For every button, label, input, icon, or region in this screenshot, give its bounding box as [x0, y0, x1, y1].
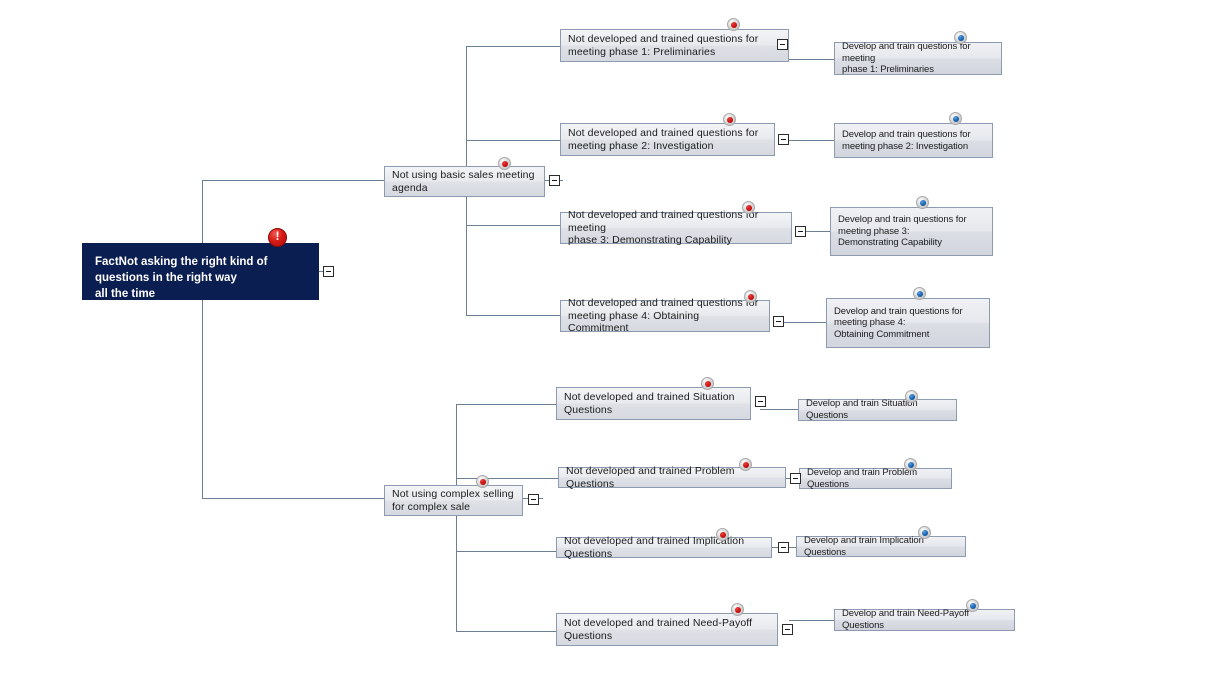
alert-icon: !: [268, 228, 287, 247]
solution-node-problem-questions[interactable]: Develop and train Problem Questions: [799, 468, 952, 489]
solution-node-label: Develop and train questions for meeting …: [842, 41, 994, 76]
problem-node-label: Not developed and trained Situation Ques…: [564, 391, 743, 417]
mindmap-canvas: FactNot asking the right kind of questio…: [0, 0, 1226, 677]
problem-node-phase-1[interactable]: Not developed and trained questions for …: [560, 29, 789, 62]
connector-needpayoff-to-solution: [789, 620, 834, 621]
solution-node-phase-2[interactable]: Develop and train questions for meeting …: [834, 123, 993, 158]
branch1-collapse-toggle[interactable]: [549, 175, 560, 186]
blue-dot-icon: [966, 599, 979, 612]
blue-dot-icon: [916, 196, 929, 209]
problem-node-problem-questions[interactable]: Not developed and trained Problem Questi…: [558, 467, 786, 488]
branch-node-complex-selling[interactable]: Not using complex selling for complex sa…: [384, 485, 523, 516]
solution-node-need-payoff-questions[interactable]: Develop and train Need-Payoff Questions: [834, 609, 1015, 631]
phase2-collapse-toggle[interactable]: [778, 134, 789, 145]
connector-branch1-child4: [466, 315, 560, 316]
blue-dot-icon: [904, 458, 917, 471]
solution-node-phase-1[interactable]: Develop and train questions for meeting …: [834, 42, 1002, 75]
blue-dot-icon: [918, 526, 931, 539]
problem-node-phase-4[interactable]: Not developed and trained questions for …: [560, 300, 770, 332]
branch2-collapse-toggle[interactable]: [528, 494, 539, 505]
problem-node-label: Not developed and trained Implication Qu…: [564, 535, 764, 561]
solution-node-label: Develop and train Implication Questions: [804, 535, 958, 558]
blue-dot-icon: [913, 287, 926, 300]
connector-branch2-child4: [456, 631, 556, 632]
red-dot-icon: [727, 18, 740, 31]
problem-node-label: Not developed and trained questions for …: [568, 297, 762, 335]
root-collapse-toggle[interactable]: [323, 266, 334, 277]
connector-branch1-child3: [466, 225, 560, 226]
problem-node-phase-2[interactable]: Not developed and trained questions for …: [560, 123, 775, 156]
red-dot-icon: [731, 603, 744, 616]
red-dot-icon: [739, 458, 752, 471]
connector-root-to-branch1: [202, 180, 385, 181]
connector-situation-to-solution: [760, 409, 798, 410]
root-node-label: FactNot asking the right kind of questio…: [95, 255, 311, 303]
blue-dot-icon: [905, 390, 918, 403]
connector-phase2-to-solution: [789, 140, 834, 141]
solution-node-situation-questions[interactable]: Develop and train Situation Questions: [798, 399, 957, 421]
root-node[interactable]: FactNot asking the right kind of questio…: [82, 243, 319, 300]
blue-dot-icon: [954, 31, 967, 44]
problem-node-situation-questions[interactable]: Not developed and trained Situation Ques…: [556, 387, 751, 420]
phase3-collapse-toggle[interactable]: [795, 226, 806, 237]
connector-branch1-child2: [466, 140, 560, 141]
solution-node-phase-3[interactable]: Develop and train questions for meeting …: [830, 207, 993, 256]
connector-phase4-to-solution: [780, 322, 826, 323]
red-dot-icon: [742, 201, 755, 214]
problem-node-phase-3[interactable]: Not developed and trained questions for …: [560, 212, 792, 244]
connector-root-to-branch2: [202, 498, 385, 499]
red-dot-icon: [744, 290, 757, 303]
solution-node-label: Develop and train questions for meeting …: [838, 214, 985, 249]
connector-phase1-to-solution: [789, 59, 835, 60]
blue-dot-icon: [949, 112, 962, 125]
problem-node-label: Not developed and trained questions for …: [568, 33, 781, 59]
red-dot-icon: [498, 157, 511, 170]
red-dot-icon: [723, 113, 736, 126]
problem-node-label: Not developed and trained questions for …: [568, 209, 784, 247]
connector-branch2-spine: [456, 404, 457, 631]
situation-collapse-toggle[interactable]: [755, 396, 766, 407]
problem-node-need-payoff-questions[interactable]: Not developed and trained Need-Payoff Qu…: [556, 613, 778, 646]
implication-collapse-toggle[interactable]: [778, 542, 789, 553]
red-dot-icon: [701, 377, 714, 390]
connector-branch2-child1: [456, 404, 556, 405]
problem-node-implication-questions[interactable]: Not developed and trained Implication Qu…: [556, 537, 772, 558]
solution-node-label: Develop and train questions for meeting …: [842, 129, 985, 152]
connector-branch2-child3: [456, 551, 556, 552]
branch-node-label: Not using complex selling for complex sa…: [392, 488, 515, 514]
solution-node-label: Develop and train Situation Questions: [806, 398, 949, 421]
connector-branch1-child1: [466, 46, 560, 47]
solution-node-implication-questions[interactable]: Develop and train Implication Questions: [796, 536, 966, 557]
branch-node-basic-sales-meeting-agenda[interactable]: Not using basic sales meeting agenda: [384, 166, 545, 197]
solution-node-label: Develop and train questions for meeting …: [834, 306, 982, 341]
problem-node-label: Not developed and trained questions for …: [568, 127, 767, 153]
phase4-collapse-toggle[interactable]: [773, 316, 784, 327]
problem-q-collapse-toggle[interactable]: [790, 473, 801, 484]
solution-node-phase-4[interactable]: Develop and train questions for meeting …: [826, 298, 990, 348]
problem-node-label: Not developed and trained Need-Payoff Qu…: [564, 617, 770, 643]
needpayoff-collapse-toggle[interactable]: [782, 624, 793, 635]
connector-branch2-child2: [456, 478, 558, 479]
branch-node-label: Not using basic sales meeting agenda: [392, 169, 537, 195]
phase1-collapse-toggle[interactable]: [777, 39, 788, 50]
connector-phase3-to-solution: [805, 231, 831, 232]
connector-root-spine: [202, 180, 203, 498]
solution-node-label: Develop and train Problem Questions: [807, 467, 944, 490]
red-dot-icon: [716, 528, 729, 541]
red-dot-icon: [476, 475, 489, 488]
solution-node-label: Develop and train Need-Payoff Questions: [842, 608, 1007, 631]
